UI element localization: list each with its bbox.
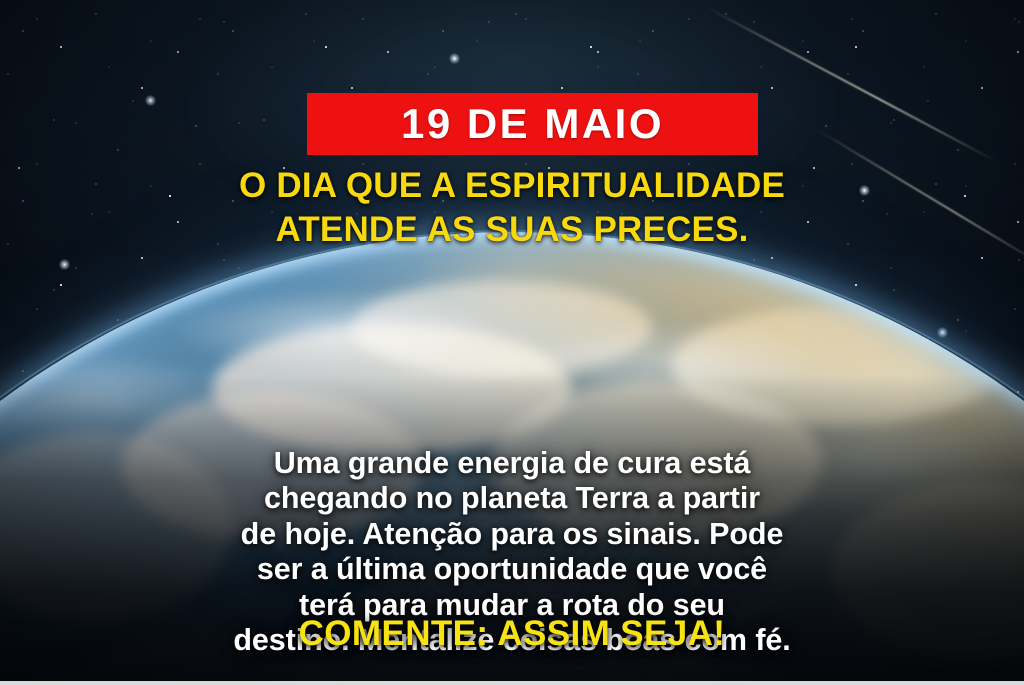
body-line: chegando no planeta Terra a partir <box>56 481 968 516</box>
body-line: de hoje. Atenção para os sinais. Pode <box>56 517 968 552</box>
date-banner-label: 19 DE MAIO <box>401 103 664 145</box>
headline-line-2: ATENDE AS SUAS PRECES. <box>0 208 1024 252</box>
headline: O DIA QUE A ESPIRITUALIDADE ATENDE AS SU… <box>0 164 1024 253</box>
call-to-action: COMENTE: ASSIM SEJA! <box>0 614 1024 654</box>
poster-canvas: 19 DE MAIO O DIA QUE A ESPIRITUALIDADE A… <box>0 0 1024 685</box>
content-layer: 19 DE MAIO O DIA QUE A ESPIRITUALIDADE A… <box>0 0 1024 685</box>
headline-line-1: O DIA QUE A ESPIRITUALIDADE <box>239 166 785 205</box>
body-line: ser a última oportunidade que você <box>56 552 968 587</box>
date-banner: 19 DE MAIO <box>307 93 758 155</box>
cta-label: COMENTE: ASSIM SEJA! <box>299 614 726 653</box>
footer-strip <box>0 681 1024 685</box>
body-line: Uma grande energia de cura está <box>56 446 968 481</box>
